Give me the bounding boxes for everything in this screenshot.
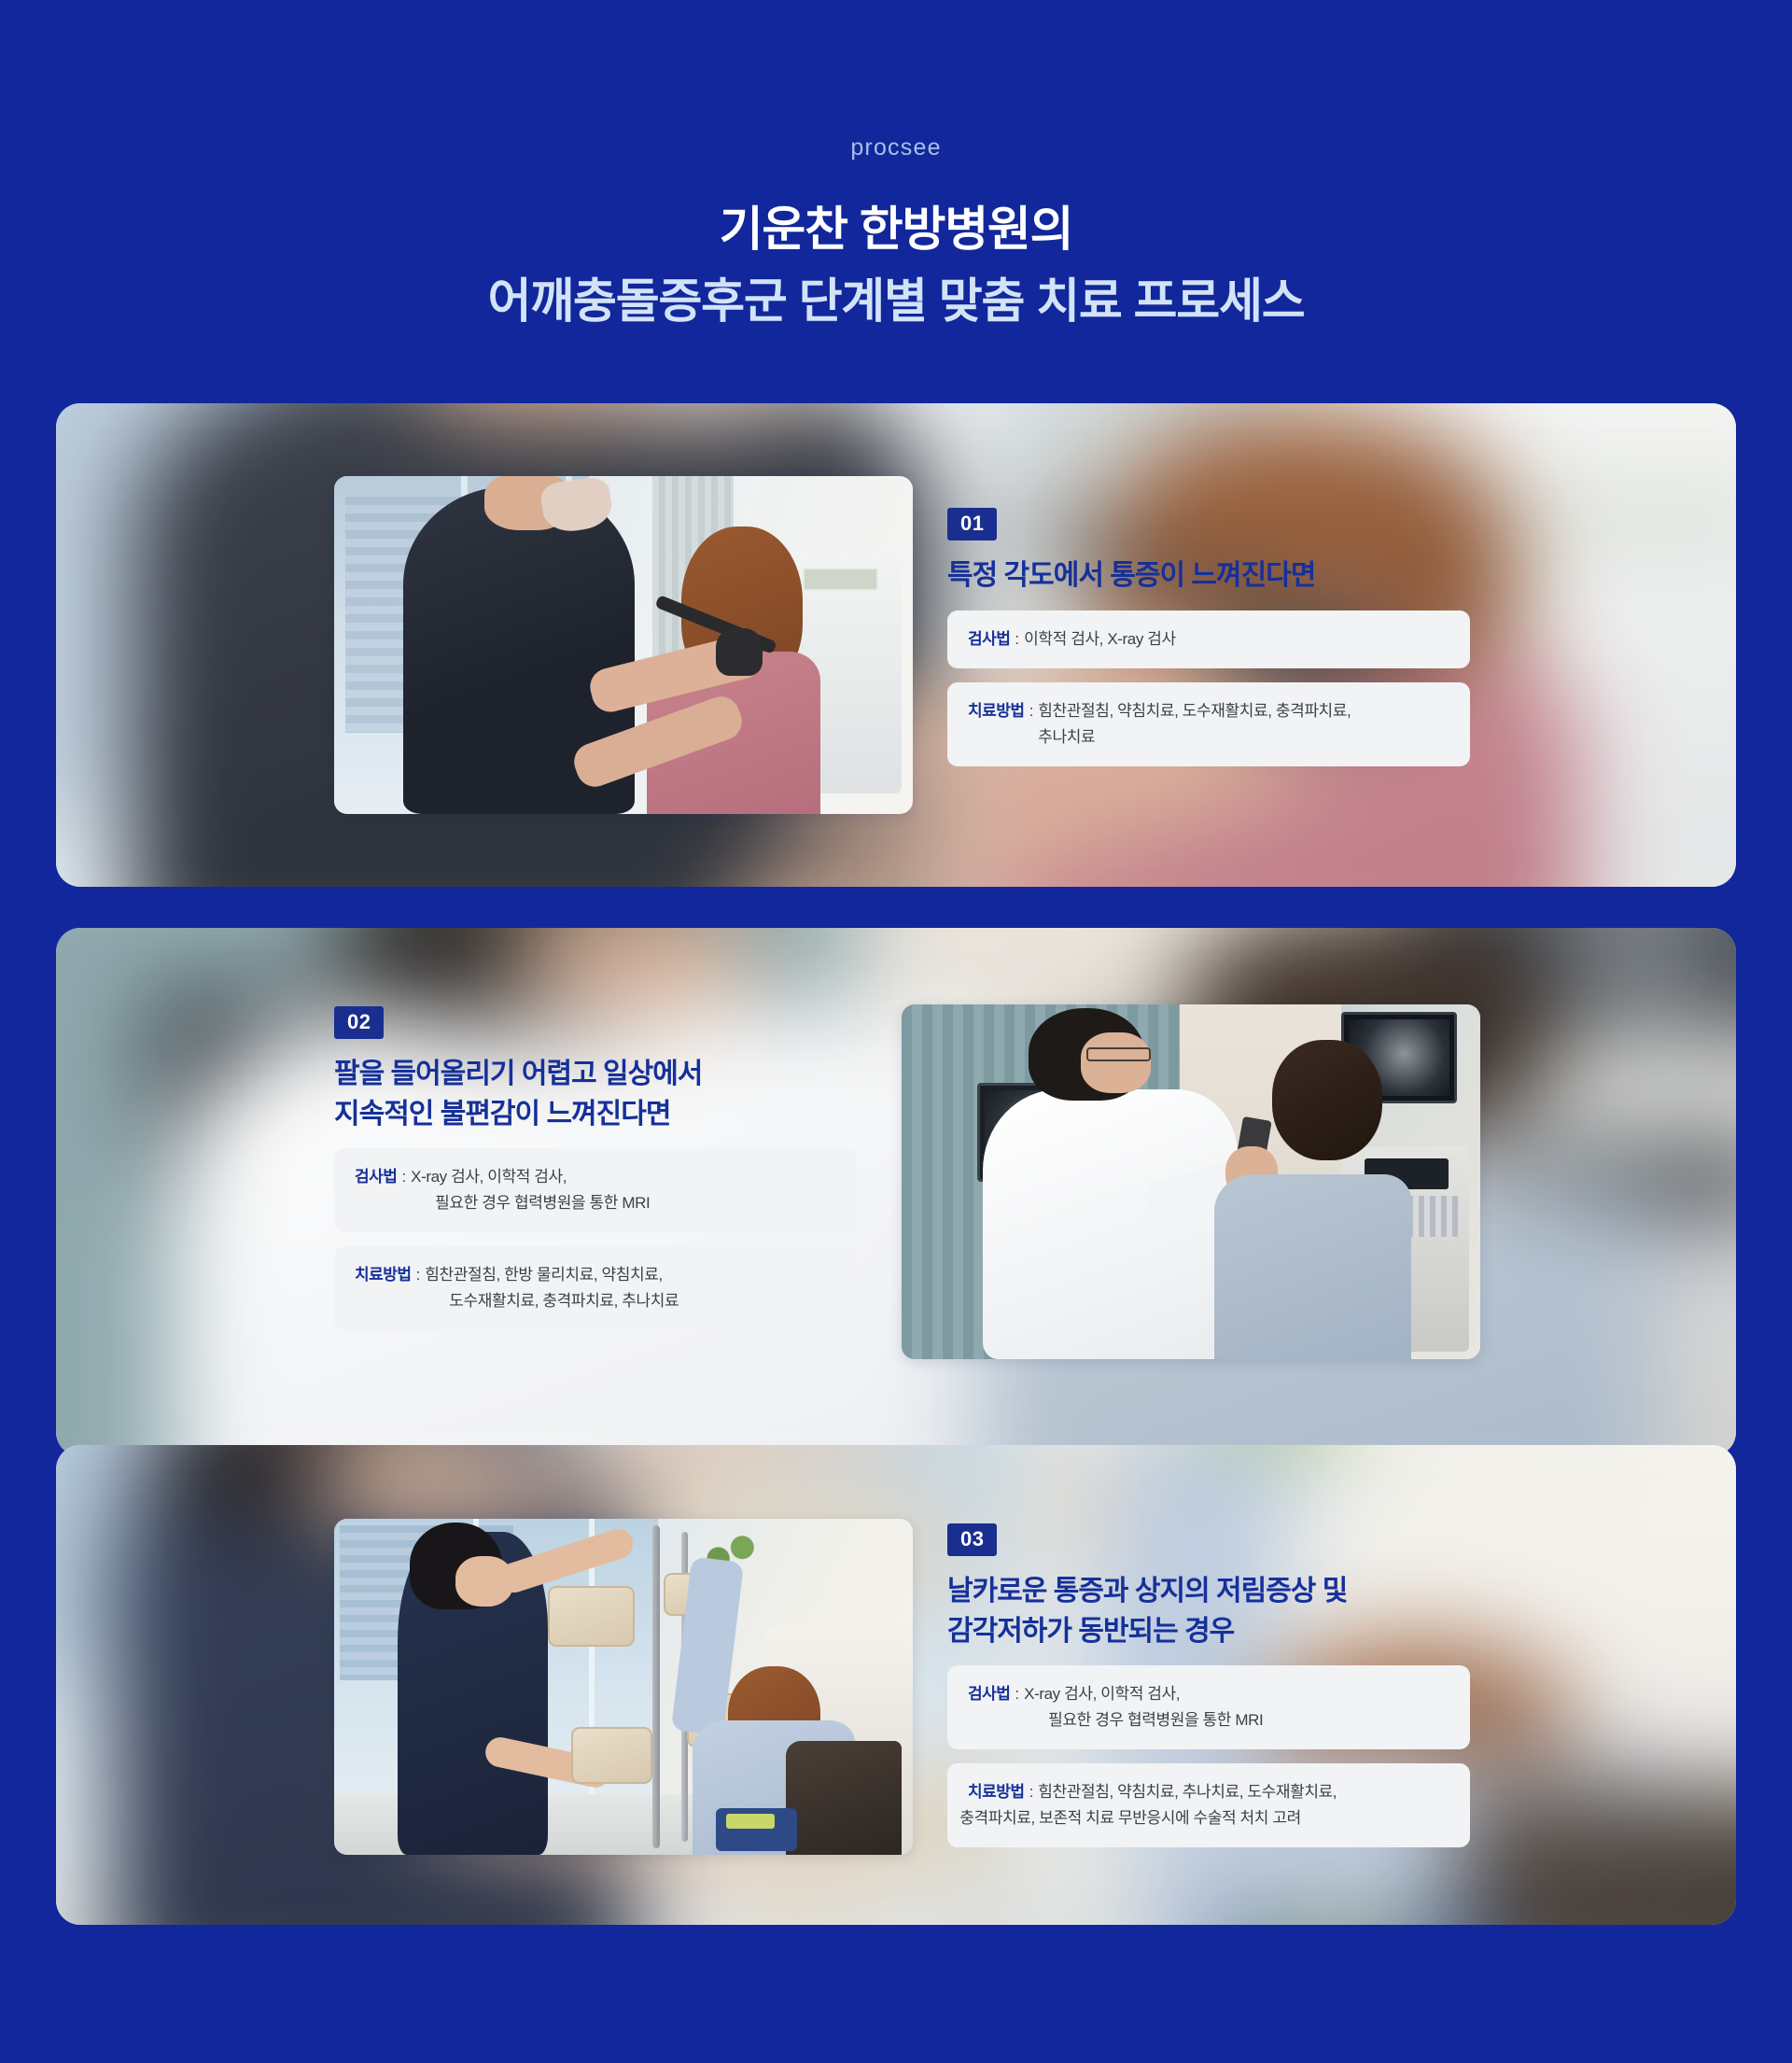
treatment-value-line-2: 추나치료	[1038, 724, 1351, 751]
step-03-treatment-box: 치료방법 : 힘찬관절침, 약침치료, 추나치료, 도수재활치료, 충격파치료,…	[947, 1763, 1470, 1847]
step-03-headline-line-1: 날카로운 통증과 상지의 저림증상 및	[947, 1576, 1347, 1607]
treatment-label: 치료방법	[355, 1262, 412, 1288]
step-01-text: 01 특정 각도에서 통증이 느껴진다면 검사법 : 이학적 검사, X-ray…	[947, 508, 1470, 766]
step-01-headline: 특정 각도에서 통증이 느껴진다면	[947, 556, 1470, 596]
step-03-photo	[334, 1519, 913, 1855]
step-02-treatment-box: 치료방법 : 힘찬관절침, 한방 물리치료, 약침치료, 도수재활치료, 충격파…	[334, 1246, 857, 1330]
step-02-exam-box: 검사법 : X-ray 검사, 이학적 검사, 필요한 경우 협력병원을 통한 …	[334, 1148, 857, 1232]
step-number-badge-01: 01	[947, 508, 997, 540]
treatment-value-line-2: 충격파치료, 보존적 치료 무반응시에 수술적 처치 고려	[959, 1805, 1337, 1831]
step-03-text: 03 날카로운 통증과 상지의 저림증상 및 감각저하가 동반되는 경우 검사법…	[947, 1523, 1470, 1847]
title-line-2: 어깨충돌증후군 단계별 맞춤 치료 프로세스	[0, 271, 1792, 331]
step-01-treatment-box: 치료방법 : 힘찬관절침, 약침치료, 도수재활치료, 충격파치료, 추나치료	[947, 682, 1470, 766]
exam-value-line-2: 필요한 경우 협력병원을 통한 MRI	[435, 1190, 650, 1216]
step-card-03: 03 날카로운 통증과 상지의 저림증상 및 감각저하가 동반되는 경우 검사법…	[56, 1445, 1736, 1925]
exam-value-line-1: X-ray 검사, 이학적 검사,	[411, 1168, 567, 1186]
step-card-02: 02 팔을 들어올리기 어렵고 일상에서 지속적인 불편감이 느껴진다면 검사법…	[56, 928, 1736, 1456]
exam-separator: :	[1010, 1681, 1024, 1707]
step-02-photo	[902, 1004, 1480, 1359]
step-02-text: 02 팔을 들어올리기 어렵고 일상에서 지속적인 불편감이 느껴진다면 검사법…	[334, 1006, 857, 1330]
step-03-headline-line-2: 감각저하가 동반되는 경우	[947, 1616, 1234, 1647]
treatment-value-line-1: 힘찬관절침, 약침치료, 추나치료, 도수재활치료,	[1038, 1783, 1337, 1801]
step-02-headline-line-1: 팔을 들어올리기 어렵고 일상에서	[334, 1059, 702, 1089]
exam-value: 이학적 검사, X-ray 검사	[1024, 626, 1176, 653]
exam-separator: :	[1010, 626, 1024, 653]
step-03-headline: 날카로운 통증과 상지의 저림증상 및 감각저하가 동반되는 경우	[947, 1572, 1470, 1651]
exam-label: 검사법	[968, 626, 1010, 653]
step-03-exam-box: 검사법 : X-ray 검사, 이학적 검사, 필요한 경우 협력병원을 통한 …	[947, 1665, 1470, 1749]
exam-label: 검사법	[355, 1164, 397, 1190]
treatment-label: 치료방법	[968, 1779, 1025, 1805]
treatment-value-line-1: 힘찬관절침, 약침치료, 도수재활치료, 충격파치료,	[1038, 702, 1351, 720]
exam-label: 검사법	[968, 1681, 1010, 1707]
page-header: procsee 기운찬 한방병원의 어깨충돌증후군 단계별 맞춤 치료 프로세스	[0, 0, 1792, 332]
step-number-badge-03: 03	[947, 1523, 997, 1556]
title-line-1: 기운찬 한방병원의	[0, 199, 1792, 260]
exam-value-line-1: X-ray 검사, 이학적 검사,	[1024, 1685, 1180, 1703]
step-number-badge-02: 02	[334, 1006, 384, 1039]
treatment-separator: :	[1025, 698, 1039, 724]
step-01-photo	[334, 476, 913, 814]
step-02-headline: 팔을 들어올리기 어렵고 일상에서 지속적인 불편감이 느껴진다면	[334, 1055, 857, 1134]
exam-value-line-2: 필요한 경우 협력병원을 통한 MRI	[1048, 1707, 1263, 1733]
step-01-exam-box: 검사법 : 이학적 검사, X-ray 검사	[947, 610, 1470, 669]
exam-separator: :	[397, 1164, 411, 1190]
step-card-01: 01 특정 각도에서 통증이 느껴진다면 검사법 : 이학적 검사, X-ray…	[56, 403, 1736, 887]
treatment-separator: :	[412, 1262, 426, 1288]
infographic-page: procsee 기운찬 한방병원의 어깨충돌증후군 단계별 맞춤 치료 프로세스	[0, 0, 1792, 2063]
treatment-value-line-2: 도수재활치료, 충격파치료, 추나치료	[449, 1288, 679, 1314]
treatment-separator: :	[1025, 1779, 1039, 1805]
page-title: 기운찬 한방병원의 어깨충돌증후군 단계별 맞춤 치료 프로세스	[0, 199, 1792, 332]
treatment-value-line-1: 힘찬관절침, 한방 물리치료, 약침치료,	[425, 1266, 663, 1284]
treatment-label: 치료방법	[968, 698, 1025, 724]
step-02-headline-line-2: 지속적인 불편감이 느껴진다면	[334, 1099, 670, 1130]
brand-logo: procsee	[0, 136, 1792, 160]
